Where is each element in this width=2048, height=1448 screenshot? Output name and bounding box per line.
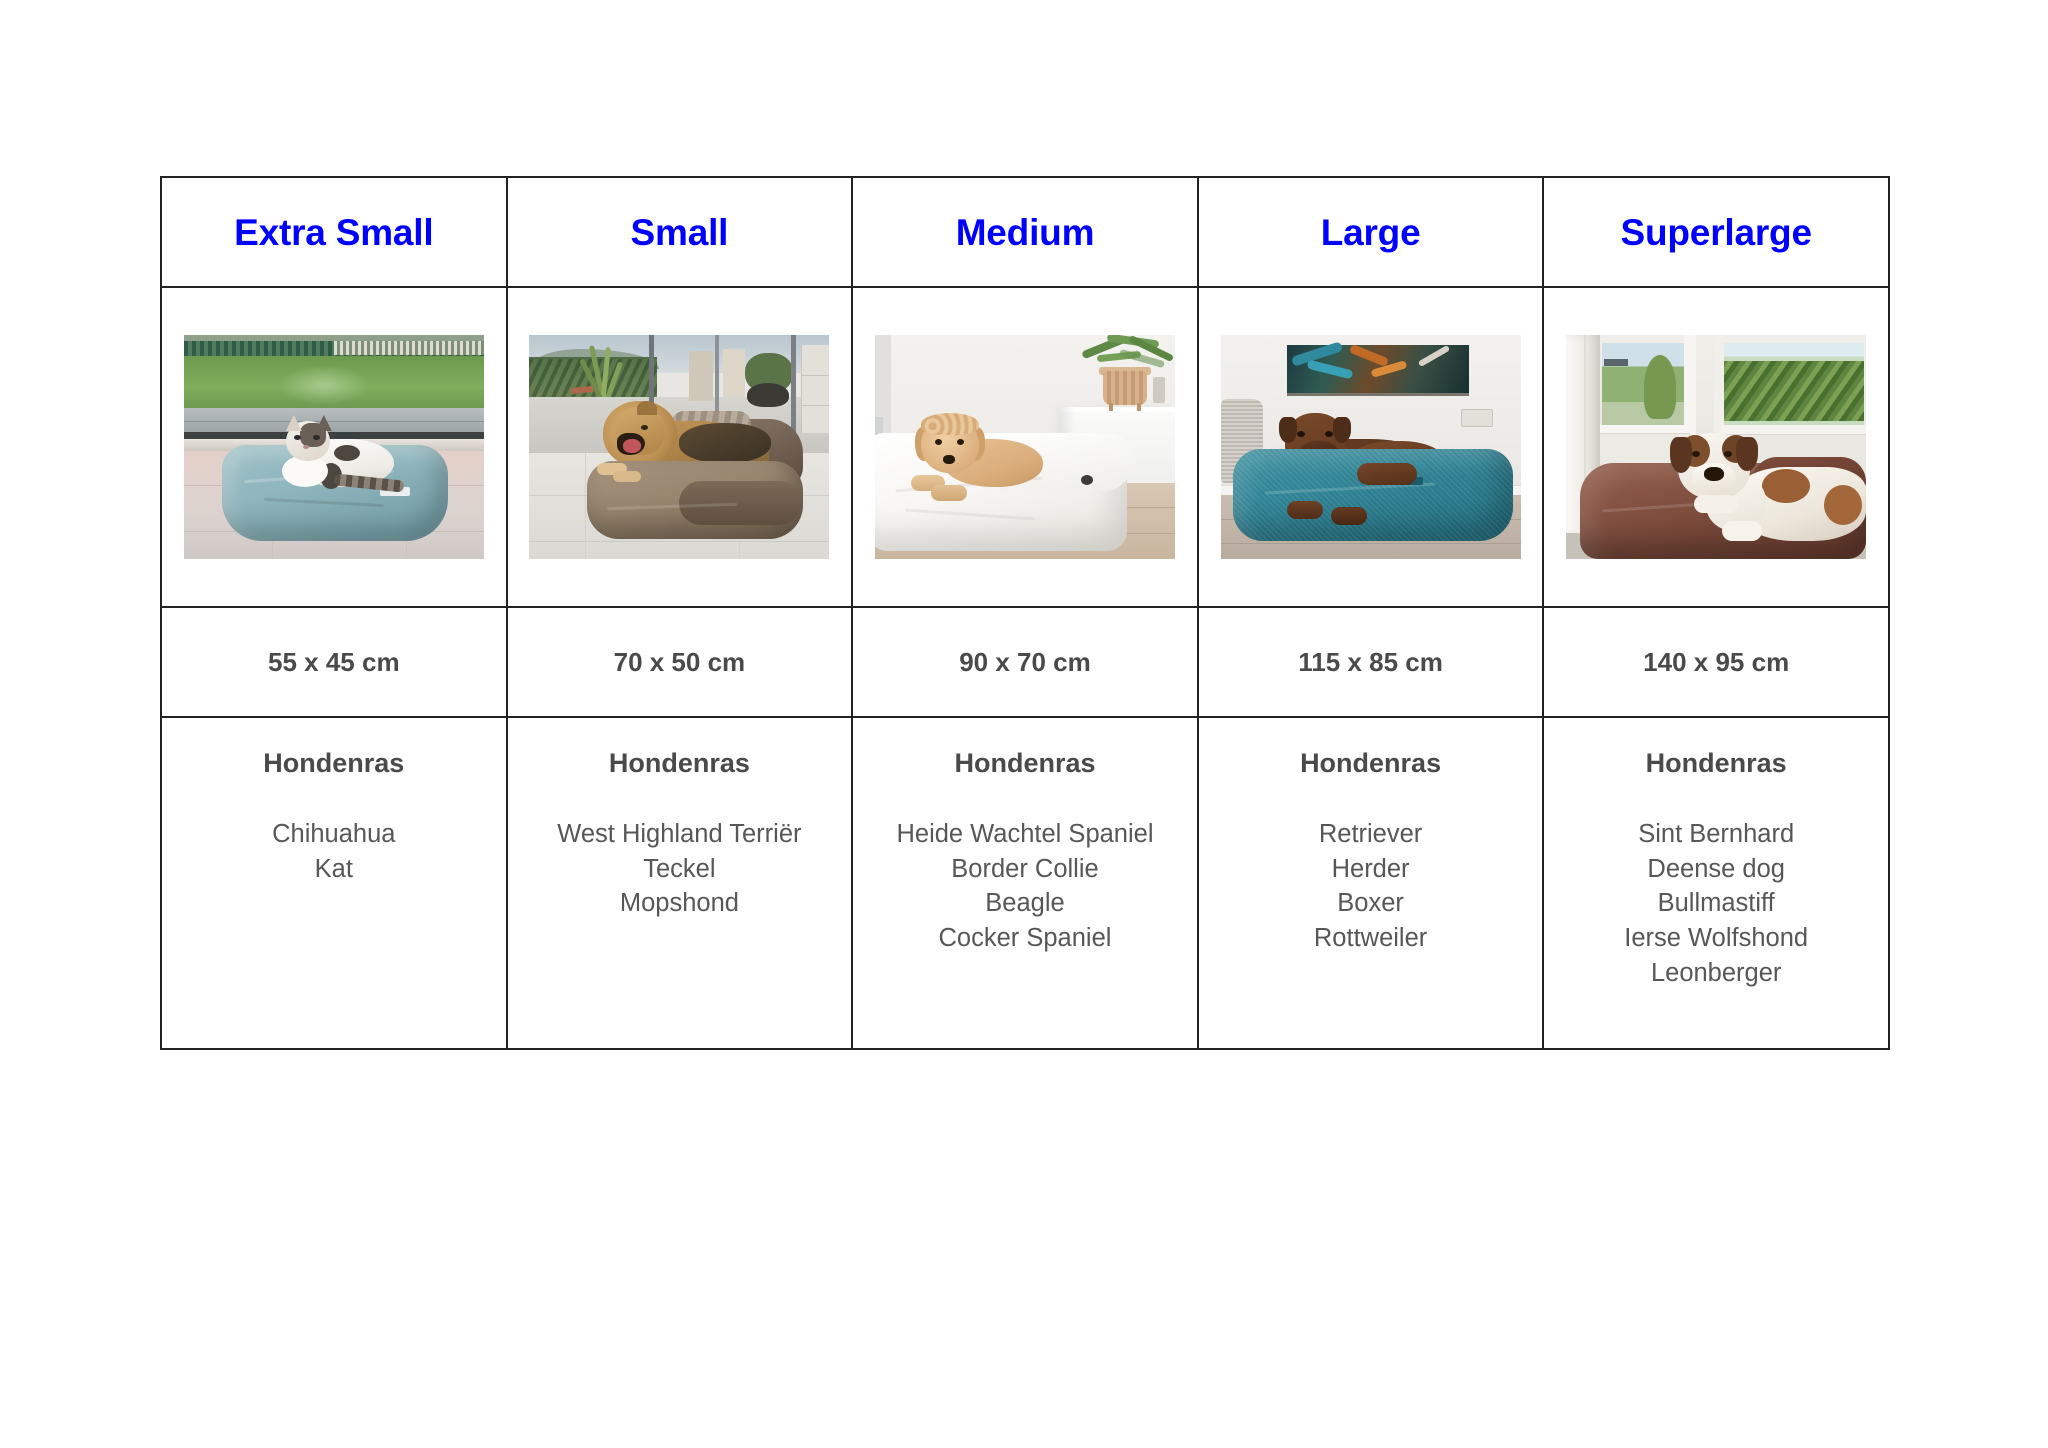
- breed-item: Heide Wachtel Spaniel: [853, 817, 1197, 852]
- dog-curly-fur: [921, 413, 979, 435]
- dog-eye: [935, 439, 942, 445]
- photo-wrapper: [1544, 288, 1888, 606]
- breed-item: West Highland Terriër: [508, 817, 852, 852]
- door-threshold: [184, 432, 484, 439]
- garden-shrub: [747, 383, 789, 407]
- size-header-label: Medium: [853, 214, 1197, 251]
- window-sill: [1596, 425, 1688, 433]
- bed-dimensions-label: 70 x 50 cm: [508, 647, 852, 678]
- garden-hedge: [1722, 361, 1864, 421]
- dimension-cell-extra-small: 55 x 45 cm: [161, 607, 507, 717]
- breed-list: West Highland Terriër Teckel Mopshond: [508, 817, 852, 921]
- breed-cell-extra-small: Hondenras Chihuahua Kat: [161, 717, 507, 1049]
- dog-bed-size-table: Extra Small Small Medium Large Superlarg…: [160, 176, 1890, 1050]
- size-header-label: Extra Small: [162, 214, 506, 251]
- dimension-cell-medium: 90 x 70 cm: [852, 607, 1198, 717]
- photo-cell-small: [507, 287, 853, 607]
- breed-section-title: Hondenras: [508, 748, 852, 779]
- cat-eye: [294, 435, 301, 440]
- photo-saint-bernard-on-brown-bed: [1566, 335, 1866, 559]
- size-header-label: Superlarge: [1544, 214, 1888, 251]
- breed-cell-small: Hondenras West Highland Terriër Teckel M…: [507, 717, 853, 1049]
- dog-nose: [943, 455, 955, 464]
- dog-paw: [1287, 501, 1323, 519]
- breed-list: Heide Wachtel Spaniel Border Collie Beag…: [853, 817, 1197, 956]
- garden-tree: [1644, 355, 1676, 419]
- photo-cell-superlarge: [1543, 287, 1889, 607]
- bed-dimensions-label: 90 x 70 cm: [853, 647, 1197, 678]
- breed-item: Ierse Wolfshond: [1544, 921, 1888, 956]
- dog-ear: [1333, 417, 1351, 443]
- dog-fur-patch: [1762, 469, 1810, 503]
- photo-cat-on-light-blue-bed: [184, 335, 484, 559]
- bed-dimensions-label: 55 x 45 cm: [162, 647, 506, 678]
- artwork-frame-edge: [1287, 393, 1469, 396]
- brand-label-tag: [1081, 475, 1093, 485]
- terrace-pillar: [689, 351, 713, 401]
- photo-cell-large: [1198, 287, 1544, 607]
- basket-planter: [1103, 371, 1147, 405]
- breed-item: Herder: [1199, 852, 1543, 887]
- dog-bed-side-roll: [679, 481, 801, 525]
- size-header-label: Small: [508, 214, 852, 251]
- breed-item: Border Collie: [853, 852, 1197, 887]
- photo-puppy-on-white-bed: [875, 335, 1175, 559]
- table-header-row: Extra Small Small Medium Large Superlarg…: [161, 177, 1889, 287]
- wall-socket: [1461, 409, 1493, 427]
- dog-eye: [1325, 431, 1333, 437]
- breed-item: Kat: [162, 852, 506, 887]
- photo-labrador-on-teal-bed: [1221, 335, 1521, 559]
- breed-item: Cocker Spaniel: [853, 921, 1197, 956]
- cat-eye: [313, 435, 320, 440]
- dog-eye: [1297, 431, 1305, 437]
- breed-section-title: Hondenras: [1544, 748, 1888, 779]
- breed-section-title: Hondenras: [853, 748, 1197, 779]
- glass-reflection: [279, 365, 369, 405]
- breed-list: Chihuahua Kat: [162, 817, 506, 886]
- bed-dimensions-label: 140 x 95 cm: [1544, 647, 1888, 678]
- header-cell-large: Large: [1198, 177, 1544, 287]
- paving-seam: [184, 421, 484, 422]
- table-dimension-row: 55 x 45 cm 70 x 50 cm 90 x 70 cm 115 x 8…: [161, 607, 1889, 717]
- tile-seam: [585, 453, 586, 559]
- dog-ear: [1279, 417, 1297, 443]
- photo-cell-medium: [852, 287, 1198, 607]
- size-header-label: Large: [1199, 214, 1543, 251]
- table-photo-row: [161, 287, 1889, 607]
- dog-tongue: [623, 439, 641, 453]
- dog-fur-patch: [1824, 485, 1862, 525]
- photo-wrapper: [853, 288, 1197, 606]
- page-canvas: Extra Small Small Medium Large Superlarg…: [0, 0, 2048, 1448]
- dog-paw: [1331, 507, 1367, 525]
- cabinet-seam: [801, 405, 829, 406]
- breed-item: Teckel: [508, 852, 852, 887]
- dog-nose: [1704, 467, 1724, 481]
- dimension-cell-small: 70 x 50 cm: [507, 607, 853, 717]
- planter-leg: [1109, 403, 1113, 411]
- breed-item: Bullmastiff: [1544, 886, 1888, 921]
- table-breed-row: Hondenras Chihuahua Kat Hondenras West H…: [161, 717, 1889, 1049]
- dog-ear: [637, 401, 657, 415]
- dog-saddle-marking: [679, 423, 771, 463]
- dog-paw: [1694, 495, 1738, 513]
- breed-cell-medium: Hondenras Heide Wachtel Spaniel Border C…: [852, 717, 1198, 1049]
- tile-seam: [529, 541, 829, 542]
- breed-item: Mopshond: [508, 886, 852, 921]
- terrace-pillar: [723, 349, 745, 397]
- window-sill: [1722, 425, 1866, 434]
- cat-fur-patch: [334, 445, 360, 461]
- header-cell-small: Small: [507, 177, 853, 287]
- cat-nose: [303, 445, 309, 449]
- photo-cell-extra-small: [161, 287, 507, 607]
- breed-item: Sint Bernhard: [1544, 817, 1888, 852]
- breed-item: Chihuahua: [162, 817, 506, 852]
- breed-list: Retriever Herder Boxer Rottweiler: [1199, 817, 1543, 956]
- breed-item: Deense dog: [1544, 852, 1888, 887]
- header-cell-superlarge: Superlarge: [1543, 177, 1889, 287]
- dog-foreleg: [1357, 463, 1417, 485]
- cabinet-seam: [801, 375, 829, 376]
- photo-terrier-on-brown-bed: [529, 335, 829, 559]
- photo-wrapper: [1199, 288, 1543, 606]
- dog-paw: [1722, 521, 1762, 541]
- breed-section-title: Hondenras: [1199, 748, 1543, 779]
- breed-item: Beagle: [853, 886, 1197, 921]
- breed-section-title: Hondenras: [162, 748, 506, 779]
- photo-wrapper: [162, 288, 506, 606]
- dimension-cell-superlarge: 140 x 95 cm: [1543, 607, 1889, 717]
- dog-paw: [931, 485, 967, 501]
- interior-cabinet: [801, 345, 829, 433]
- breed-item: Rottweiler: [1199, 921, 1543, 956]
- photo-wrapper: [508, 288, 852, 606]
- dog-eye: [957, 439, 964, 445]
- dimension-cell-large: 115 x 85 cm: [1198, 607, 1544, 717]
- breed-list: Sint Bernhard Deense dog Bullmastiff Ier…: [1544, 817, 1888, 990]
- decor-candle: [1153, 377, 1165, 403]
- header-cell-extra-small: Extra Small: [161, 177, 507, 287]
- planter-leg: [1137, 403, 1141, 411]
- header-cell-medium: Medium: [852, 177, 1198, 287]
- sideboard-top: [1061, 407, 1175, 412]
- breed-cell-large: Hondenras Retriever Herder Boxer Rottwei…: [1198, 717, 1544, 1049]
- breed-item: Leonberger: [1544, 956, 1888, 991]
- breed-item: Retriever: [1199, 817, 1543, 852]
- dog-paw: [613, 471, 641, 482]
- floor-plank-seam: [1221, 543, 1521, 544]
- bed-dimensions-label: 115 x 85 cm: [1199, 647, 1543, 678]
- fence-highlight: [334, 341, 484, 355]
- distant-roof: [1604, 359, 1628, 366]
- breed-item: Boxer: [1199, 886, 1543, 921]
- breed-cell-superlarge: Hondenras Sint Bernhard Deense dog Bullm…: [1543, 717, 1889, 1049]
